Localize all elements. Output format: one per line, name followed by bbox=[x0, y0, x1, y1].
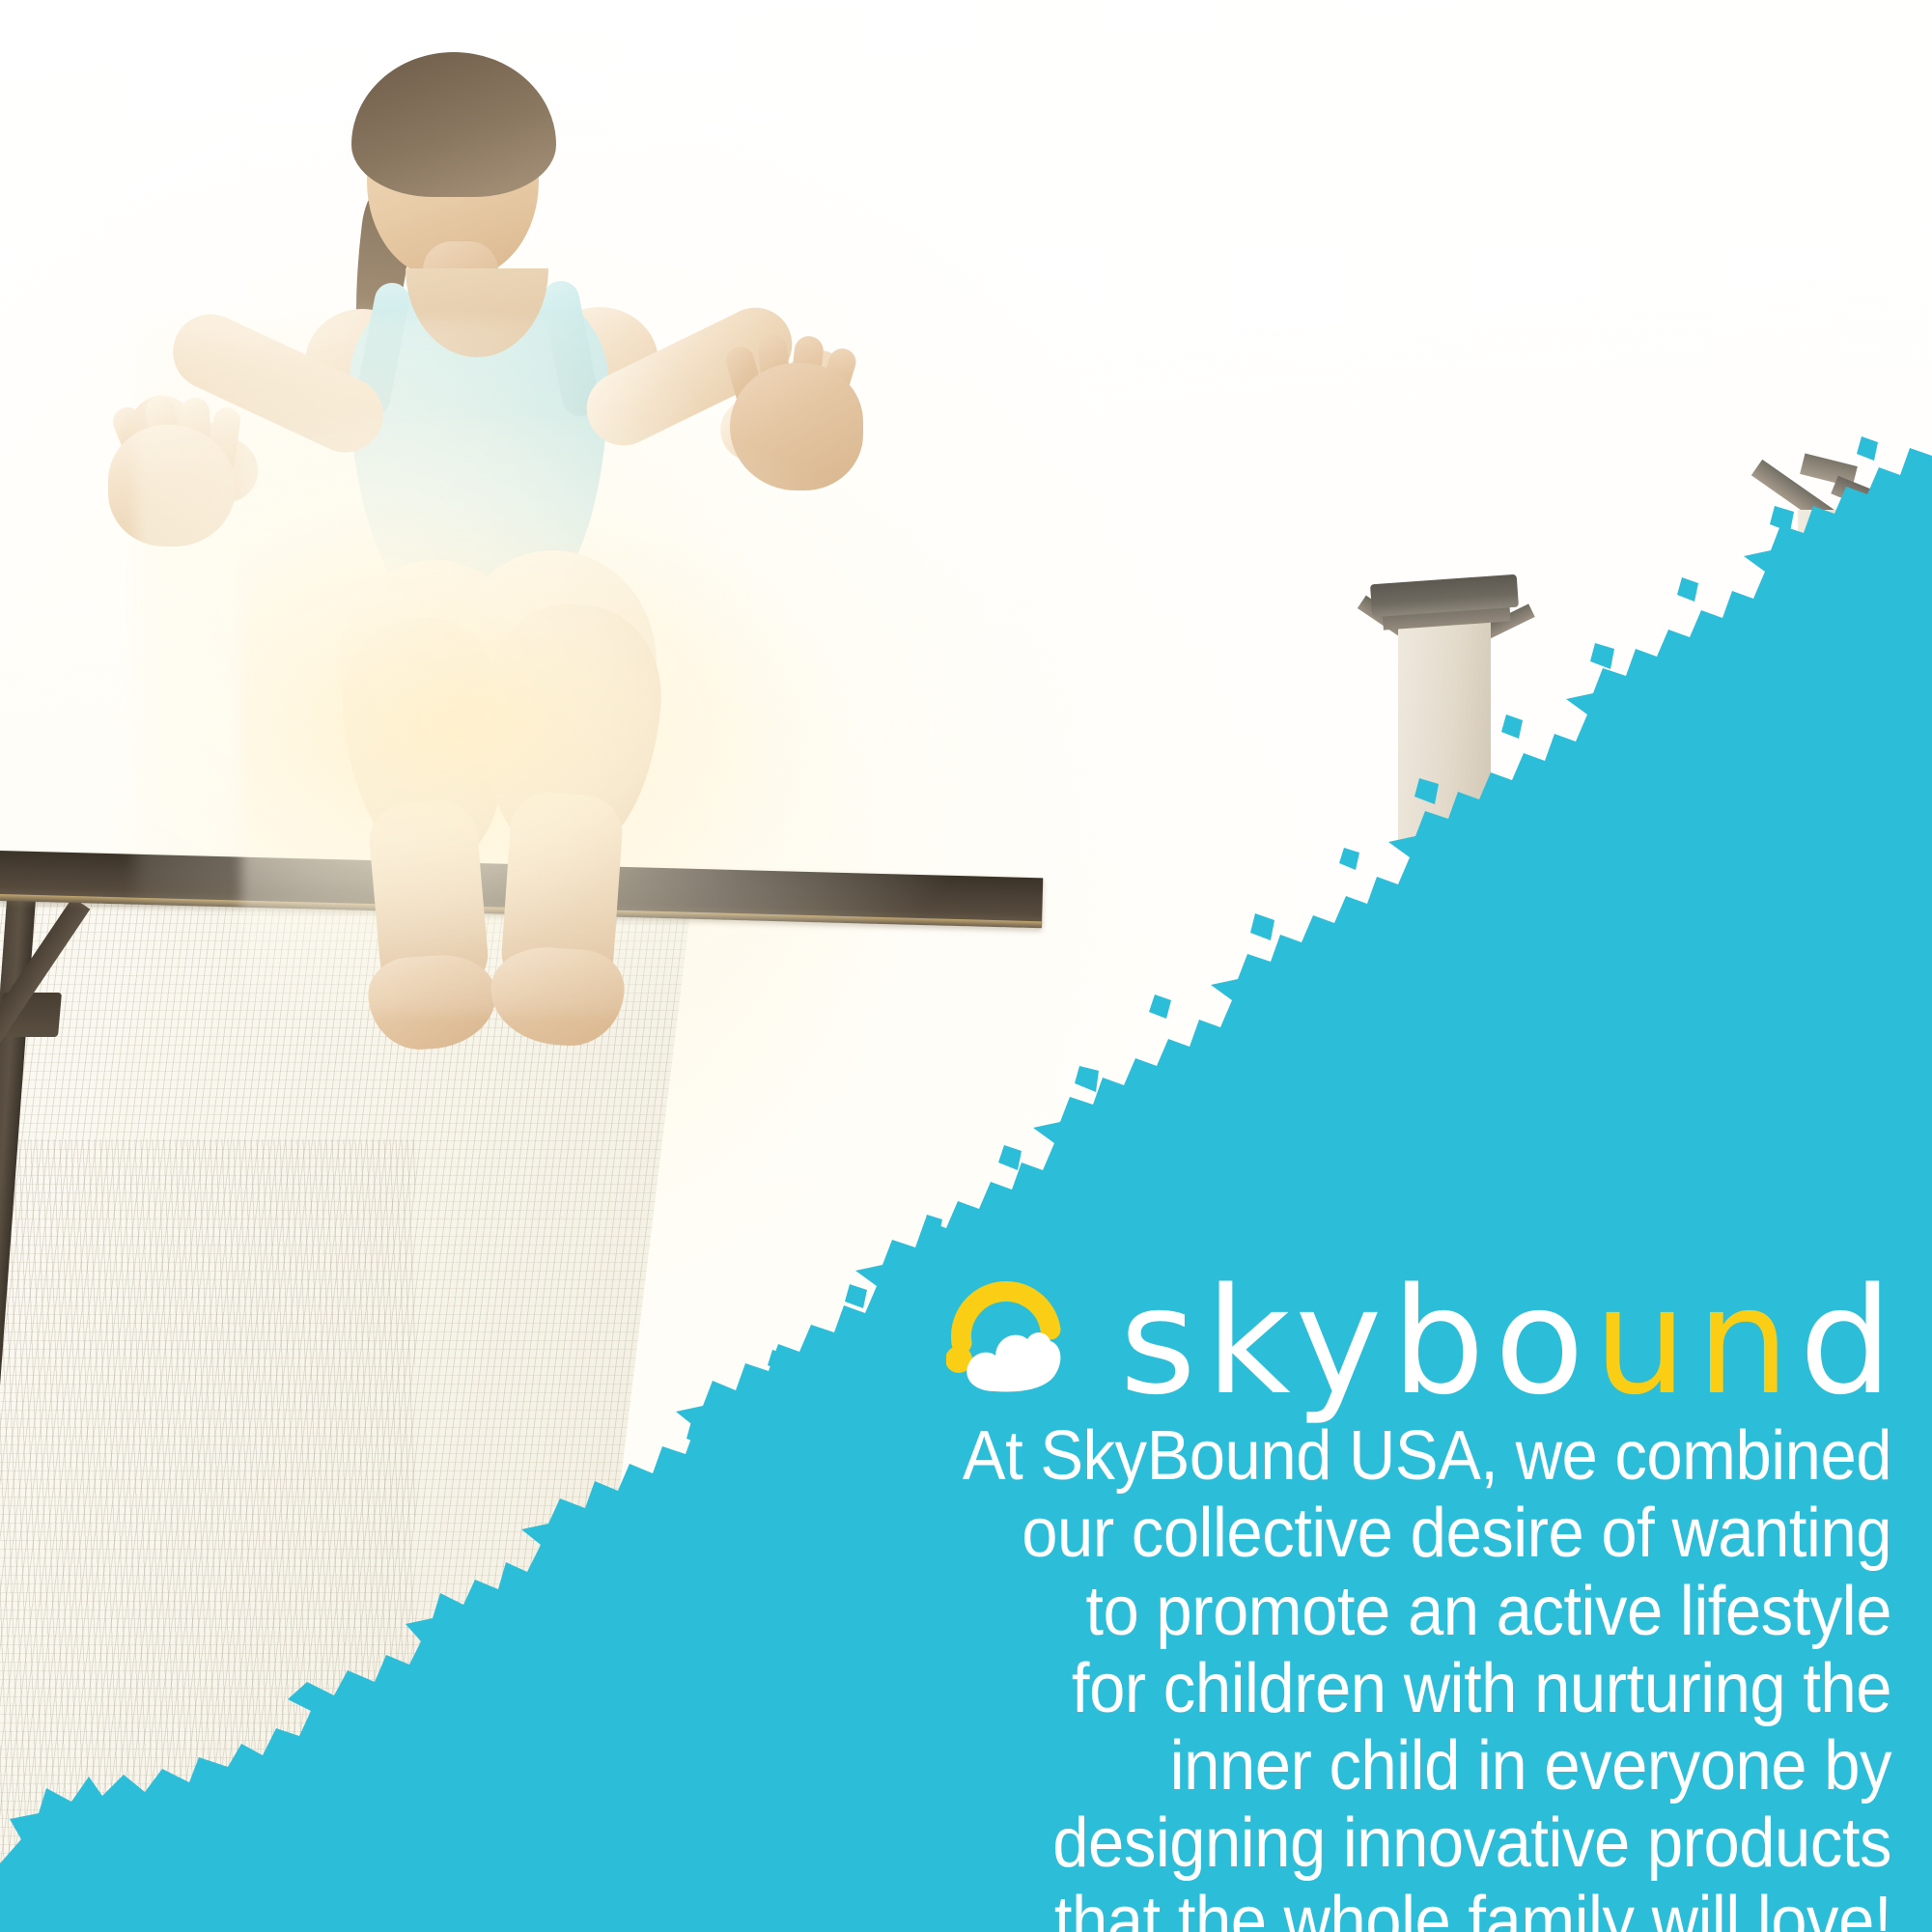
copy-line-2: our collective desire of wanting bbox=[688, 1495, 1891, 1572]
foot-right bbox=[488, 943, 628, 1049]
wordmark-part-skybo: skybo bbox=[1120, 1256, 1594, 1427]
hand-left bbox=[108, 425, 236, 546]
copy-line-5: inner child in everyone by bbox=[688, 1727, 1891, 1805]
hair bbox=[351, 52, 556, 197]
copy-line-1: At SkyBound USA, we combined bbox=[688, 1417, 1891, 1495]
wordmark-part-u: u bbox=[1594, 1256, 1696, 1427]
copy-line-7: that the whole family will love! bbox=[688, 1883, 1891, 1932]
chimney-far bbox=[1798, 510, 1898, 684]
wordmark-part-d: d bbox=[1800, 1256, 1902, 1427]
copy-line-3: to promote an active lifestyle bbox=[688, 1573, 1891, 1650]
copy-line-6: designing innovative products bbox=[688, 1805, 1891, 1882]
sun-and-cloud-icon bbox=[946, 1270, 1091, 1414]
girl-jumping bbox=[116, 39, 869, 1072]
wordmark-part-n: n bbox=[1696, 1256, 1799, 1427]
trampoline-net-lower bbox=[0, 1139, 415, 1932]
copy-line-4: for children with nurturing the bbox=[688, 1650, 1891, 1727]
brand-lockup: skybound bbox=[850, 1255, 1902, 1429]
poster-canvas: skybound At SkyBound USA, we combined ou… bbox=[0, 0, 1932, 1932]
mission-statement: At SkyBound USA, we combined our collect… bbox=[598, 1417, 1891, 1932]
foot-left bbox=[366, 952, 499, 1053]
chimney-near bbox=[1398, 618, 1491, 850]
brand-wordmark: skybound bbox=[1120, 1269, 1902, 1415]
hand-right bbox=[730, 363, 863, 490]
